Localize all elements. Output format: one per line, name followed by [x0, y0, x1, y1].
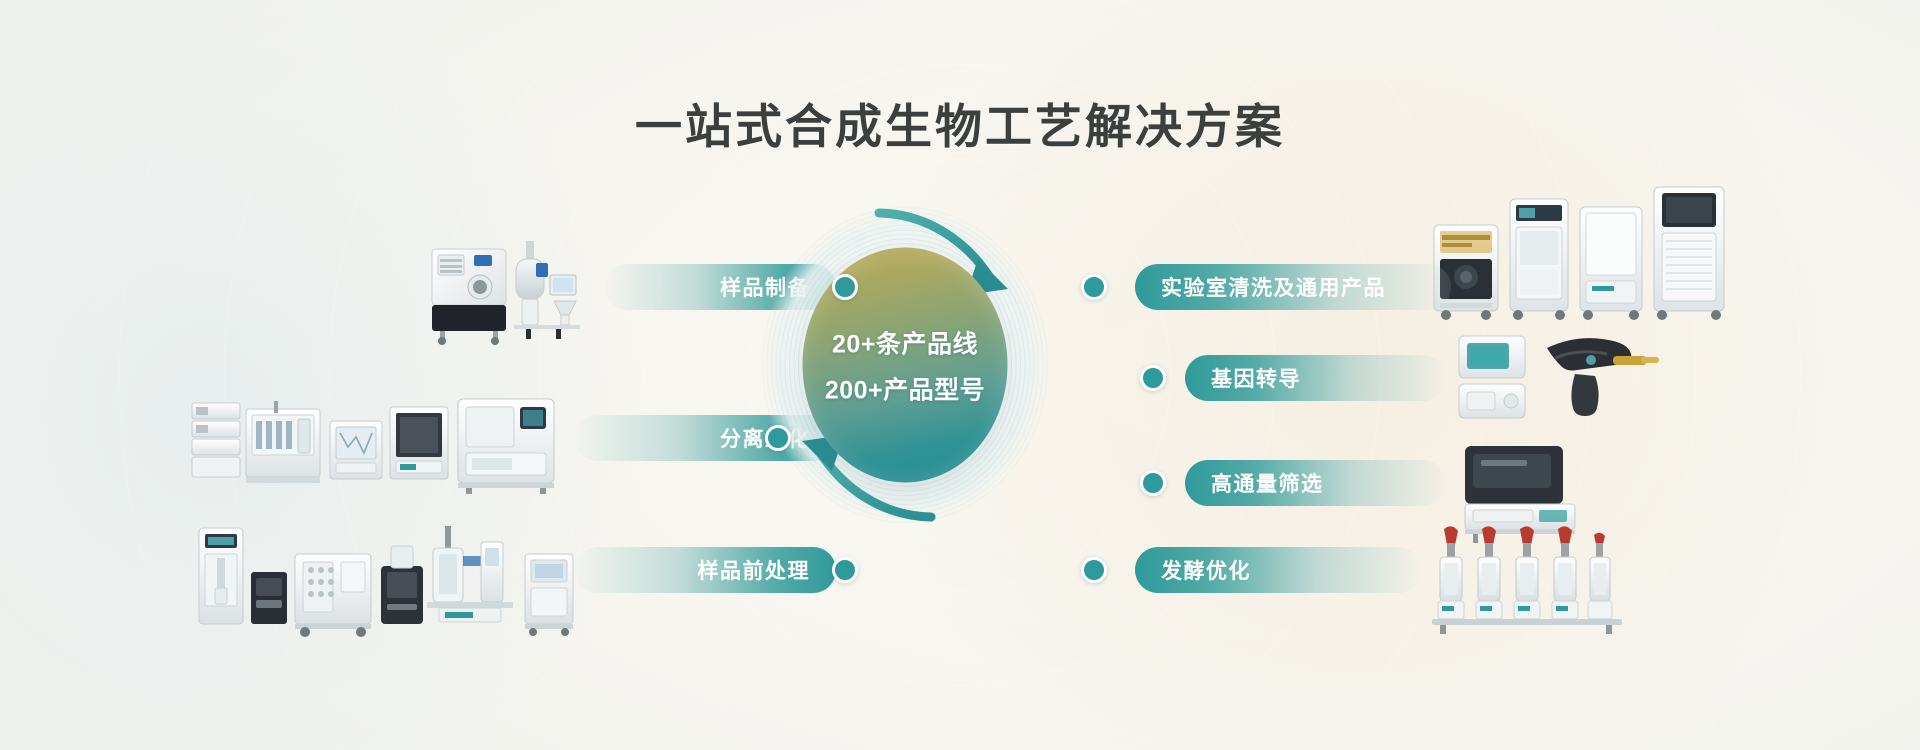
equipment-group-fermentation-optimization — [1430, 525, 1630, 635]
equipment-group-lab-cleaning — [1430, 185, 1730, 325]
pill-label: 发酵优化 — [1161, 555, 1251, 585]
pill-label: 基因转导 — [1211, 363, 1301, 393]
equipment-group-sample-preparation — [430, 235, 610, 345]
connector-dot-high-throughput-screening[interactable] — [1140, 470, 1166, 496]
equipment-group-separation-purification — [190, 395, 570, 495]
pill-gene-transduction[interactable]: 基因转导 — [1185, 355, 1446, 401]
connector-dot-sample-pretreatment[interactable] — [832, 557, 858, 583]
equipment-group-sample-pretreatment — [195, 520, 595, 640]
pill-fermentation-optimization[interactable]: 发酵优化 — [1135, 547, 1421, 593]
connector-dot-gene-transduction[interactable] — [1140, 365, 1166, 391]
connector-dot-fermentation-optimization[interactable] — [1081, 557, 1107, 583]
hub-line-product-models: 200+产品型号 — [825, 370, 985, 406]
pill-label: 实验室清洗及通用产品 — [1161, 272, 1386, 302]
center-hub: 20+条产品线 200+产品型号 — [760, 205, 1050, 525]
pill-sample-pretreatment[interactable]: 样品前处理 — [575, 547, 836, 593]
pill-label: 样品前处理 — [698, 555, 811, 585]
hub-line-product-lines: 20+条产品线 — [832, 324, 978, 360]
pill-high-throughput-screening[interactable]: 高通量筛选 — [1185, 460, 1446, 506]
page-title: 一站式合成生物工艺解决方案 — [0, 88, 1920, 157]
connector-dot-sample-preparation[interactable] — [832, 274, 858, 300]
equipment-group-gene-transduction — [1455, 330, 1665, 425]
pill-lab-cleaning-general-products[interactable]: 实验室清洗及通用产品 — [1135, 264, 1451, 310]
connector-dot-lab-cleaning[interactable] — [1081, 274, 1107, 300]
connector-dot-separation-purification[interactable] — [765, 425, 791, 451]
infographic-canvas: 一站式合成生物工艺解决方案 — [0, 0, 1920, 750]
pill-label: 高通量筛选 — [1211, 468, 1324, 498]
